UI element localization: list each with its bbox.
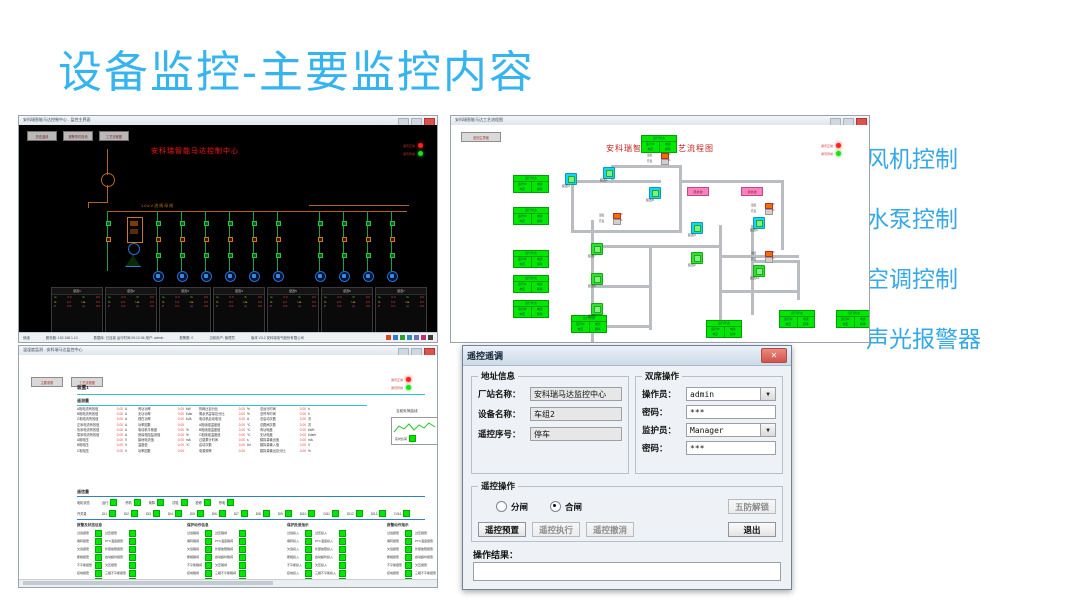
status-item-5: 版本 V3.2 安科瑞电气股份有限公司 <box>251 335 304 340</box>
execute-button[interactable]: 遥控执行 <box>532 522 580 537</box>
feeder-breaker-node <box>342 237 347 242</box>
feeder-breaker-node <box>156 237 161 242</box>
group-address-info: 地址信息 厂站名称： 安科瑞马达监控中心 设备名称： 车组2 遥控序号： 停车 <box>471 370 629 474</box>
meter-tag: 温度 <box>751 203 756 207</box>
indicator-led-icon <box>95 570 102 577</box>
indicator-label: 断相报警 <box>77 554 92 561</box>
indicator-label: PTC温度报警 <box>415 538 436 545</box>
meter-unit: ℃ <box>668 153 671 156</box>
status-led-green-icon <box>197 510 204 517</box>
scada-led-normal: 通讯正常 <box>403 143 423 148</box>
device-card-title: 装置6 <box>322 288 372 295</box>
status-dot-red-icon <box>418 143 423 148</box>
feeder-ct-node <box>228 253 233 258</box>
status-cell: 电压 <box>707 332 725 337</box>
indicator-led-icon <box>129 546 136 553</box>
field-supervisor-password-label: 密码： <box>642 442 686 454</box>
indicator-label: 不平衡报警 <box>77 562 92 569</box>
indicator-label: 欠压报警 <box>105 562 126 569</box>
flow-canvas: 返回主界面 安科瑞智能马达工艺流程图 通讯正常 通讯异常 运行状态运行中电流电压… <box>451 125 869 342</box>
status-cell: 电压 <box>642 147 660 152</box>
main-bus <box>107 211 407 212</box>
meter-unit: % <box>772 209 774 212</box>
flow-button-back[interactable]: 返回主界面 <box>461 132 501 142</box>
indicator-led-icon <box>305 530 312 537</box>
indicator-label: 启动超时跳闸 <box>215 554 236 561</box>
divider-cyan-1 <box>77 394 425 395</box>
motor-icon[interactable] <box>563 173 577 183</box>
motor-icon[interactable] <box>589 243 603 253</box>
indicator-label: 堵转报警 <box>77 538 92 545</box>
feeder-ct-node <box>180 253 185 258</box>
status-led-green-icon <box>263 510 270 517</box>
device-card[interactable]: 装置4Ia0.0Ib0.0Ic0.0Ua0.0P0.0Q0.0 <box>213 287 265 333</box>
card-key: Q <box>136 304 138 309</box>
indicator-label: 启动超时投入 <box>315 554 336 561</box>
card-key: Q <box>352 304 354 309</box>
device-card-title: 装置4 <box>214 288 264 295</box>
status-led-green-icon <box>153 510 160 517</box>
field-operator[interactable]: 操作员： admin ▼ <box>642 387 776 401</box>
radio-open-breaker[interactable]: 分闸 <box>496 501 528 513</box>
tray-icons[interactable] <box>386 335 433 340</box>
status-led-green-icon <box>175 510 182 517</box>
device-card[interactable]: 装置3Ia0.0Ib0.0Ic0.0Ua0.0P0.0Q0.0 <box>159 287 211 333</box>
indicator-label: 过压投入 <box>315 530 336 537</box>
card-key: P <box>54 304 56 309</box>
indicator-label: 过载投入 <box>287 530 302 537</box>
station-name-input[interactable]: 安科瑞马达监控中心 <box>530 387 622 401</box>
close-icon[interactable]: ✕ <box>761 348 787 363</box>
field-supervisor-label: 监护员： <box>642 424 686 436</box>
feeder-breaker-node <box>276 237 281 242</box>
field-operator-password-label: 密码： <box>642 406 686 418</box>
device-name-input[interactable]: 车组2 <box>530 407 622 421</box>
indicator-group: 报警及状态信息过载报警过压报警堵转报警PTC温度报警欠载报警外部故障报警断相报警… <box>77 523 136 587</box>
status-cell: 频率 <box>590 327 607 332</box>
trend-sparkline-icon <box>392 420 437 435</box>
device-card[interactable]: 装置5Ia0.0Ib0.0Ic0.0Ua0.0P0.0Q0.0 <box>267 287 319 333</box>
status-box[interactable]: 运行状态运行中电流电压频率 <box>706 320 742 338</box>
feeder-breaker-node <box>318 237 323 242</box>
status-led-green-icon <box>356 510 363 517</box>
feeder-motor-icon[interactable] <box>315 271 326 282</box>
exit-button[interactable]: 退出 <box>728 522 776 537</box>
card-key: P <box>378 304 380 309</box>
status-box[interactable]: 运行状态运行中电流电压频率 <box>641 135 677 153</box>
status-box[interactable]: 运行状态运行中电流电压频率 <box>513 300 549 318</box>
motor-icon[interactable] <box>751 217 765 227</box>
pipe-segment <box>649 245 719 248</box>
field-operator-password[interactable]: 密码： *** <box>642 405 776 419</box>
feeder-ct-node <box>342 253 347 258</box>
card-key: P <box>162 304 164 309</box>
indicator-led-icon <box>405 570 412 577</box>
indicator-led-icon <box>305 562 312 569</box>
feeder-switch-node <box>180 221 185 226</box>
status-item: DI13 <box>371 510 387 517</box>
indicator-led-icon <box>339 530 346 537</box>
indicator-led-icon <box>205 562 212 569</box>
scada-led-group: 通讯正常 通讯异常 <box>403 143 423 159</box>
feeder-switch-node <box>156 221 161 226</box>
horizontal-scrollbar[interactable] <box>19 579 437 587</box>
card-value: 0.0 <box>229 304 233 309</box>
card-value: 0.0 <box>175 304 179 309</box>
radio-circle-selected-icon[interactable] <box>550 501 561 512</box>
preset-button[interactable]: 遥控预置 <box>478 522 526 537</box>
status-item-label: DI3 <box>146 512 151 516</box>
status-led-green-icon <box>131 510 138 517</box>
result-input[interactable] <box>473 562 781 581</box>
pipe-segment <box>571 180 661 183</box>
tray-icon-user[interactable] <box>414 335 419 340</box>
sub-bus <box>309 205 409 206</box>
scrollbar-thumb[interactable] <box>23 581 273 585</box>
device-card[interactable]: 装置2Ia0.0Ib0.0Ic0.0Ua0.0P0.0Q0.0 <box>105 287 157 333</box>
status-box[interactable]: 运行状态运行中电流电压频率 <box>836 310 869 328</box>
scada-toolbar[interactable]: 历史曲线 报警事件查询 工艺流程图 <box>27 131 129 141</box>
indicator-led-icon <box>405 538 412 545</box>
group-address-legend: 地址信息 <box>478 370 518 382</box>
motor-icon[interactable] <box>689 252 703 262</box>
breaker-node <box>106 237 111 242</box>
status-item-label: 运行 <box>102 500 108 505</box>
device-card[interactable]: 装置6Ia0.0Ib0.0Ic0.0Ua0.0P0.0Q0.0 <box>321 287 373 333</box>
indicator-group: 保护投退指示过载投入过压投入堵转投入PTC温度投入欠载投入外部故障投入断相投入启… <box>287 523 346 587</box>
indicator-led-icon <box>95 562 102 569</box>
operator-password-input[interactable]: *** <box>686 405 776 419</box>
card-value: 0.0 <box>283 304 287 309</box>
field-station-name[interactable]: 厂站名称： 安科瑞马达监控中心 <box>478 387 622 401</box>
card-key: Q <box>298 304 300 309</box>
transformer-icon <box>101 173 115 187</box>
pipe-segment <box>719 225 722 335</box>
indicator-label: 接地投入 <box>287 570 302 577</box>
feeder-switch-node <box>342 221 347 226</box>
dialog-body: 地址信息 厂站名称： 安科瑞马达监控中心 设备名称： 车组2 遥控序号： 停车 … <box>463 366 791 378</box>
measure-name: 电源频率 <box>199 449 233 454</box>
feeder-motor-icon[interactable] <box>177 271 188 282</box>
motor-icon[interactable] <box>589 303 603 313</box>
status-cell: 频率 <box>798 322 815 327</box>
slide-root: 设备监控-主要监控内容 风机控制 水泵控制 空调控制 声光报警器 安科瑞智能马达… <box>0 0 1080 608</box>
trend-legend-label: 实时负荷 <box>395 437 407 441</box>
indicator-led-icon <box>239 546 246 553</box>
divider-blue-1 <box>77 496 425 497</box>
scada-button-flow[interactable]: 工艺流程图 <box>99 131 129 141</box>
status-led-green-icon <box>227 499 234 506</box>
feeder-ct-node <box>252 253 257 258</box>
status-item-label: DI6 <box>212 512 217 516</box>
feeder-motor-icon[interactable] <box>273 271 284 282</box>
motor-icon[interactable] <box>601 167 615 177</box>
indicator-group-title: 报警动作指示 <box>387 523 437 528</box>
indicator-label: 不平衡投入 <box>287 562 302 569</box>
status-dot-green-icon <box>418 151 423 156</box>
card-value: 0.0 <box>366 304 370 309</box>
indicator-label: PTC温度报警 <box>105 538 126 545</box>
list-toolbar[interactable]: 主要参数 工艺流程图 <box>31 377 103 387</box>
supervisor-password-input[interactable]: *** <box>686 441 776 455</box>
status-cell: 电压 <box>514 312 532 317</box>
device-card[interactable]: 装置1Ia0.0Ib0.0Ic0.0Ua0.0P0.0Q0.0 <box>51 287 103 333</box>
status-item: DI6 <box>212 510 226 517</box>
field-station-name-label: 厂站名称： <box>478 388 530 400</box>
radio-open-breaker-label: 分闸 <box>511 501 528 513</box>
indicator-led-icon <box>95 538 102 545</box>
scada-canvas: 历史曲线 报警事件查询 工艺流程图 安科瑞智能马达控制中心 通讯正常 通讯异常 <box>19 125 437 342</box>
label-pump-control: 水泵控制 <box>866 200 1076 234</box>
scada-button-history[interactable]: 历史曲线 <box>27 131 57 141</box>
indicator-led-icon <box>95 554 102 561</box>
status-dot-red-icon <box>406 377 411 382</box>
measure-name: 模拟量输出百分比 <box>260 449 294 454</box>
feeder-breaker-node <box>228 237 233 242</box>
tray-icon-db[interactable] <box>407 335 412 340</box>
label-alarm-device: 声光报警器 <box>866 320 1076 354</box>
scada-led-fault: 通讯异常 <box>403 151 423 156</box>
field-supervisor-password[interactable]: 密码： *** <box>642 441 776 455</box>
tray-icon-exit[interactable] <box>428 335 433 340</box>
motor-label: 装置1 <box>600 178 608 182</box>
meter-tag: 开度 <box>751 209 756 213</box>
remote-control-dialog[interactable]: 遥控遥调 ✕ 地址信息 厂站名称： 安科瑞马达监控中心 设备名称： 车组2 遥控… <box>462 345 792 590</box>
indicator-led-icon <box>305 554 312 561</box>
legend-swatch-green-icon <box>409 435 416 442</box>
status-item-label: 试验 <box>172 500 178 505</box>
meter-tag: 开度 <box>599 219 604 223</box>
status-item: DI8 <box>256 510 270 517</box>
status-item: DI12 <box>347 510 363 517</box>
indicator-label: 接地报警 <box>387 570 402 577</box>
indicator-label: 欠压投入 <box>315 562 336 569</box>
indicator-label: 堵转跳闸 <box>187 538 202 545</box>
status-row-label: 电机状态 <box>77 500 99 505</box>
operator-select-value: admin <box>690 390 714 399</box>
feeder-switch-node <box>276 221 281 226</box>
chevron-down-icon[interactable]: ▼ <box>760 388 775 400</box>
supervisor-select[interactable]: Manager ▼ <box>686 423 776 437</box>
feeder-motor-icon[interactable] <box>249 271 260 282</box>
pipe-segment <box>649 245 652 330</box>
meter-unit: ℃ <box>772 251 775 254</box>
field-control-seq[interactable]: 遥控序号： 停车 <box>478 427 622 441</box>
pipe-segment <box>611 165 681 168</box>
scada-led-normal-label: 通讯正常 <box>403 144 415 148</box>
card-key: Q <box>244 304 246 309</box>
indicator-label: 断相跳闸 <box>187 554 202 561</box>
feeder-switch-node <box>204 221 209 226</box>
card-value: 0.0 <box>150 304 154 309</box>
status-item-label: DI1 <box>102 512 107 516</box>
scada-titlebar-text: 安科瑞智能马达控制中心 - 监控主界面 <box>23 117 91 123</box>
indicator-label: 过压报警 <box>415 530 436 537</box>
switch-node <box>106 221 111 226</box>
status-cell: 电压 <box>780 322 798 327</box>
indicator-led-icon <box>205 530 212 537</box>
radio-close-breaker-label: 合闸 <box>565 501 582 513</box>
feeder-motor-icon[interactable] <box>201 271 212 282</box>
action-button-row[interactable]: 遥控预置 遥控执行 遥控撤消 退出 <box>478 522 776 537</box>
status-item: DI5 <box>190 510 204 517</box>
group-dual-legend: 双席操作 <box>642 370 682 382</box>
field-device-name[interactable]: 设备名称： 车组2 <box>478 407 622 421</box>
measure-unit: V <box>125 449 138 454</box>
card-key: P <box>324 304 326 309</box>
motor-icon[interactable] <box>751 265 765 275</box>
measure-value: 0.00 <box>294 449 308 454</box>
indicator-label: 堵转报警 <box>387 538 402 545</box>
operator-select[interactable]: admin ▼ <box>686 387 776 401</box>
status-item-label: DI5 <box>190 512 195 516</box>
status-item: 试验 <box>172 499 187 506</box>
tray-icon-alarm[interactable] <box>386 335 391 340</box>
unlock-button[interactable]: 五防解锁 <box>728 499 776 514</box>
motor-label: 装置6 <box>588 284 596 288</box>
feeder-switch-node <box>366 221 371 226</box>
feeder-motor-icon[interactable] <box>363 271 374 282</box>
feeder-switch-node <box>228 221 233 226</box>
indicator-led-icon <box>339 554 346 561</box>
indicator-group-title: 保护动作信息 <box>187 523 246 528</box>
motor-label: 装置7 <box>588 254 596 258</box>
status-led-green-icon <box>181 499 188 506</box>
measure-name: 功率因数 <box>138 449 172 454</box>
indicator-label: 外部故障报警 <box>415 546 436 553</box>
trend-legend: 实时负荷 <box>395 435 416 442</box>
card-key: Q <box>190 304 192 309</box>
measure-value: 0.00 <box>172 449 186 454</box>
pipe-segment <box>751 260 799 263</box>
indicator-led-icon <box>405 530 412 537</box>
window-monitoring-list[interactable]: 温湿度监测 - 安科瑞马达监控中心 主要参数 工艺流程图 通讯正常 通讯异常 <box>18 345 438 588</box>
indicator-led-icon <box>239 554 246 561</box>
motor-icon[interactable] <box>689 222 703 232</box>
status-item: DI2 <box>124 510 138 517</box>
radio-row[interactable]: 分闸 合闸 五防解锁 <box>496 499 776 514</box>
card-key: Q <box>82 304 84 309</box>
motor-label: 装置8 <box>646 198 654 202</box>
status-item-label: 故障 <box>149 500 155 505</box>
status-led-green-icon <box>241 510 248 517</box>
indicator-label: 不平衡跳闸 <box>187 562 202 569</box>
measure-unit <box>186 449 199 454</box>
status-box[interactable]: 运行状态运行中电流电压频率 <box>513 175 549 193</box>
status-cell: 电压 <box>837 322 855 327</box>
device-card-title: 装置2 <box>106 288 156 295</box>
window-process-flow[interactable]: 安科瑞智能马达工艺流程图 返回主界面 安科瑞智能马达工艺流程图 通讯正常 通讯异… <box>450 115 870 343</box>
status-cell: 电压 <box>514 262 532 267</box>
status-box[interactable]: 运行状态运行中电流电压频率 <box>779 310 815 328</box>
label-fan-control: 风机控制 <box>866 140 1076 174</box>
indicator-led-icon <box>305 546 312 553</box>
radio-circle-icon[interactable] <box>496 501 507 512</box>
status-item-label: DI13 <box>371 512 378 516</box>
pipe-segment <box>719 290 799 293</box>
indicator-led-icon <box>305 570 312 577</box>
indicator-led-icon <box>405 546 412 553</box>
card-value: 0.0 <box>204 304 208 309</box>
scada-button-alarms[interactable]: 报警事件查询 <box>63 131 93 141</box>
indicator-label: 不平衡报警 <box>387 562 402 569</box>
status-box[interactable]: 运行状态运行中电流电压频率 <box>513 275 549 293</box>
status-cell: 电压 <box>572 327 590 332</box>
status-item: DI1 <box>102 510 116 517</box>
motor-label: 装置5 <box>588 314 596 318</box>
meter-tag: 开度 <box>751 257 756 261</box>
tray-icon-network[interactable] <box>393 335 398 340</box>
cancel-button[interactable]: 遥控撤消 <box>586 522 634 537</box>
dialog-titlebar[interactable]: 遥控遥调 ✕ <box>463 346 791 366</box>
device-card[interactable]: 装置7Ia0.0Ib0.0Ic0.0Ua0.0P0.0Q0.0 <box>375 287 427 333</box>
window-scada-oneline[interactable]: 安科瑞智能马达控制中心 - 监控主界面 历史曲线 报警事件查询 工艺流程图 安科… <box>18 115 438 343</box>
feeder-motor-icon[interactable] <box>153 271 164 282</box>
feeder-motor-icon[interactable] <box>339 271 350 282</box>
field-supervisor[interactable]: 监护员： Manager ▼ <box>642 423 776 437</box>
status-cell: 频率 <box>855 322 870 327</box>
indicator-label: 欠载报警 <box>77 546 92 553</box>
radio-close-breaker[interactable]: 合闸 <box>550 501 582 513</box>
feeder-breaker-node <box>180 237 185 242</box>
indicator-label: 断相报警 <box>387 554 402 561</box>
list-titlebar-text: 温湿度监测 - 安科瑞马达监控中心 <box>23 347 83 353</box>
feeder-motor-icon[interactable] <box>225 271 236 282</box>
card-value: 0.0 <box>67 304 71 309</box>
indicator-label: 外部故障跳闸 <box>215 546 236 553</box>
control-seq-input[interactable]: 停车 <box>530 427 622 441</box>
indicator-led-icon <box>239 530 246 537</box>
indicator-label: 欠载跳闸 <box>187 546 202 553</box>
measure-unit <box>247 449 260 454</box>
feeder-breaker-node <box>390 237 395 242</box>
status-item-label: DI8 <box>256 512 261 516</box>
indicator-led-icon <box>205 538 212 545</box>
status-item: DI4 <box>168 510 182 517</box>
supervisor-select-value: Manager <box>690 426 724 435</box>
tray-icon-link[interactable] <box>400 335 405 340</box>
status-led-green-icon <box>219 510 226 517</box>
chevron-down-icon[interactable]: ▼ <box>760 424 775 436</box>
indicator-led-icon <box>95 530 102 537</box>
indicator-led-icon <box>205 546 212 553</box>
indicator-led-icon <box>405 562 412 569</box>
motor-icon[interactable] <box>647 187 661 197</box>
status-dot-green-icon <box>406 385 411 390</box>
status-led-green-icon <box>204 499 211 506</box>
indicator-led-icon <box>95 546 102 553</box>
motor-icon[interactable] <box>589 273 603 283</box>
incoming-line <box>107 149 108 175</box>
status-row-motor-state: 电机状态运行停机故障试验检修停电 <box>77 499 239 506</box>
card-key: P <box>216 304 218 309</box>
status-cell: 电压 <box>514 187 532 192</box>
list-button-main-params[interactable]: 主要参数 <box>31 377 63 387</box>
indicator-label: 过载报警 <box>77 530 92 537</box>
group-dual-operation: 双席操作 操作员： admin ▼ 密码： *** 监护员： Manager <box>635 370 783 474</box>
status-box[interactable]: 运行状态运行中电流电压频率 <box>513 250 549 268</box>
tray-icon-print[interactable] <box>421 335 426 340</box>
status-box[interactable]: 运行状态运行中电流电压频率 <box>513 207 549 225</box>
feeder-ct-node <box>318 253 323 258</box>
status-item: 运行 <box>102 499 117 506</box>
status-led-green-icon <box>403 510 410 517</box>
feeder-motor-icon[interactable] <box>387 271 398 282</box>
list-device-title: 装置1 <box>77 385 89 391</box>
measurement-table: A相电流有效值0.00A有功功率0.00kW热耗比百分比0.00%总运行时间0.… <box>77 407 377 454</box>
measure-unit: % <box>308 449 321 454</box>
meter-tag: 温度 <box>751 251 756 255</box>
